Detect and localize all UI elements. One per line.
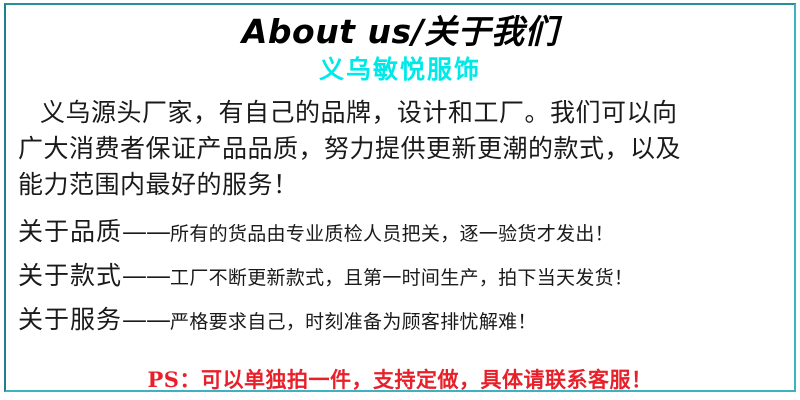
about-detail-list: 关于品质 —— 所有的货品由专业质检人员把关，逐一验货才发出！ 关于款式 —— … (4, 211, 796, 343)
about-row-dash: —— (122, 255, 170, 297)
about-us-banner: About us/关于我们 义乌敏悦服饰 义乌源头厂家，有自己的品牌，设计和工厂… (0, 0, 800, 400)
about-row-label: 关于款式 (18, 255, 122, 297)
intro-line: 能力范围内最好的服务！ (18, 167, 790, 203)
ps-note: PS：可以单独拍一件，支持定做，具体请联系客服！ (4, 367, 796, 393)
about-detail-row: 关于款式 —— 工厂不断更新款式，且第一时间生产，拍下当天发货！ (18, 255, 790, 299)
intro-paragraph: 义乌源头厂家，有自己的品牌，设计和工厂。我们可以向 广大消费者保证产品品质，努力… (4, 95, 796, 203)
about-detail-row: 关于服务 —— 严格要求自己，时刻准备为顾客排忧解难！ (18, 299, 790, 343)
intro-line: 广大消费者保证产品品质，努力提供更新更潮的款式，以及 (18, 131, 790, 167)
about-row-label: 关于服务 (18, 299, 122, 341)
banner-content: About us/关于我们 义乌敏悦服饰 义乌源头厂家，有自己的品牌，设计和工厂… (4, 3, 796, 392)
intro-line: 义乌源头厂家，有自己的品牌，设计和工厂。我们可以向 (18, 95, 790, 131)
about-row-description: 所有的货品由专业质检人员把关，逐一验货才发出！ (170, 213, 614, 255)
about-row-label: 关于品质 (18, 211, 122, 253)
page-title: About us/关于我们 (4, 11, 796, 53)
shop-name-subtitle: 义乌敏悦服饰 (4, 55, 796, 85)
about-detail-row: 关于品质 —— 所有的货品由专业质检人员把关，逐一验货才发出！ (18, 211, 790, 255)
about-row-description: 严格要求自己，时刻准备为顾客排忧解难！ (170, 301, 537, 343)
about-row-dash: —— (122, 299, 170, 341)
about-row-description: 工厂不断更新款式，且第一时间生产，拍下当天发货！ (170, 257, 633, 299)
about-row-dash: —— (122, 211, 170, 253)
